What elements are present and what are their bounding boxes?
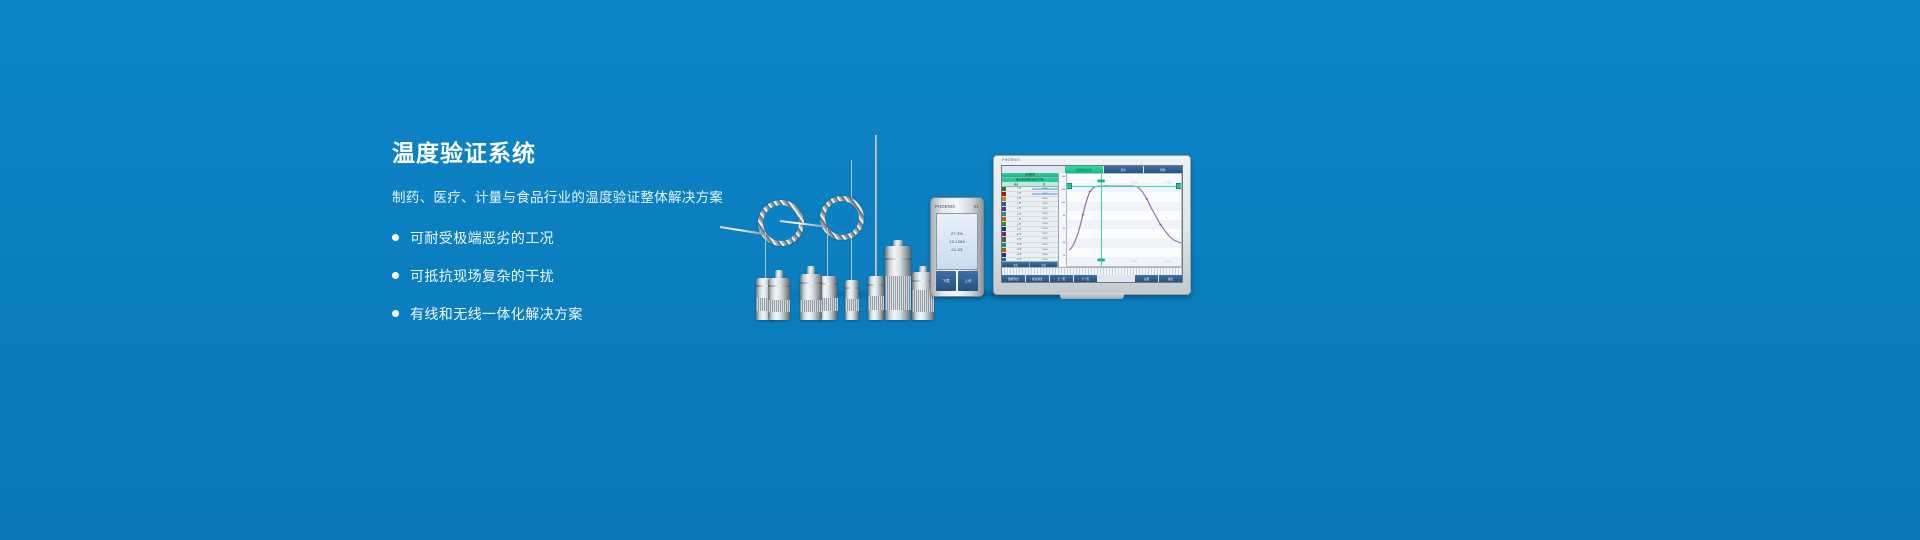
cell-channel: 4 号 (1006, 202, 1032, 205)
bottom-settings-button[interactable]: 设置 (1135, 275, 1158, 282)
handheld-screen-line-2: 13.1289 (949, 239, 965, 244)
chart-x-axis (1002, 267, 1182, 275)
y-tick-label: 80 (1063, 215, 1065, 217)
cell-channel: 5 号 (1006, 207, 1032, 210)
cell-value: 121.0 (1032, 223, 1058, 225)
cursor-label-top[interactable]: 光标A (1097, 180, 1105, 183)
cell-value: 121.7 (1032, 208, 1058, 210)
feature-bullet-label: 有线和无线一体化解决方案 (410, 304, 583, 324)
cell-channel: 7 号 (1006, 218, 1032, 221)
y-tick-label: 120 (1062, 189, 1065, 191)
annotation-label-cooldown: 降温段 (1165, 180, 1172, 184)
y-tick-label: 140 (1062, 176, 1065, 178)
bottom-export-button[interactable]: 数据导出 (1002, 275, 1025, 282)
cursor-handle-left[interactable]: A (1067, 183, 1072, 189)
annotation-label-sterilize-bottom: 灭菌段 (1131, 259, 1138, 263)
bottom-next-button[interactable]: 下一页 (1074, 275, 1097, 282)
cell-channel: 6 号 (1006, 213, 1032, 216)
handheld-screen-line-3: 01.03 (951, 247, 962, 252)
cell-channel: 13 号 (1006, 248, 1032, 251)
cell-value: 121.2 (1032, 203, 1058, 205)
software-bottom-bar[interactable]: 数据导出 报表预览 上一页 下一页 设置 退出 (1002, 275, 1182, 282)
handheld-brand-label: PHOENIX (935, 204, 955, 209)
bullet-dot-icon (392, 234, 399, 241)
validation-software-window: 新建验证任务 显示 帮助 通道数据 最高温度/最低温度/平均值 通道 值 1 号… (1001, 165, 1183, 283)
monitor-stand (1060, 293, 1124, 299)
cell-value: 121.3 (1032, 213, 1058, 215)
cell-value: 121.1 (1032, 244, 1058, 246)
cell-channel: 12 号 (1006, 243, 1032, 246)
cell-value: 121.4 (1032, 188, 1058, 190)
handheld-model-label: V1 (973, 204, 979, 209)
chart-plot-area[interactable]: 光标A 光标B A B 灭菌段 降温段 灭菌段 降温段 (1067, 173, 1182, 267)
cell-value: 121.3 (1032, 254, 1058, 256)
cell-channel: 9 号 (1006, 228, 1032, 231)
bottom-prev-button[interactable]: 上一页 (1050, 275, 1073, 282)
cell-channel: 2 号 (1006, 192, 1032, 195)
y-tick-label: 20 (1063, 255, 1065, 257)
cell-value: 121.8 (1032, 228, 1058, 230)
needle-probe-tall (868, 135, 884, 320)
software-toolbar[interactable]: 新建验证任务 显示 帮助 (1002, 166, 1182, 173)
bottom-preview-button[interactable]: 报表预览 (1026, 275, 1049, 282)
bottom-exit-button[interactable]: 退出 (1159, 275, 1182, 282)
software-body: 通道数据 最高温度/最低温度/平均值 通道 值 1 号121.4 2 号121.… (1002, 173, 1182, 267)
toolbar-display-button[interactable]: 显示 (1104, 166, 1142, 173)
channel-data-table[interactable]: 通道数据 最高温度/最低温度/平均值 通道 值 1 号121.4 2 号121.… (1002, 173, 1059, 267)
bullet-dot-icon (392, 310, 399, 317)
annotation-label-cooldown-bottom: 降温段 (1165, 259, 1172, 263)
handheld-keypad[interactable]: 下载 上传 (936, 271, 978, 291)
cell-channel: 10 号 (1006, 233, 1032, 236)
cursor-handle-right[interactable]: B (1176, 183, 1182, 189)
handheld-reader-device[interactable]: PHOENIX V1 27.3% 13.1289 01.03 下载 上传 (930, 197, 984, 297)
bullet-dot-icon (392, 272, 399, 279)
promo-banner: 温度验证系统 制药、医疗、计量与食品行业的温度验证整体解决方案 可耐受极端恶劣的… (0, 0, 1920, 540)
cell-value: 121.6 (1032, 249, 1058, 251)
data-logger-small-2 (800, 270, 822, 320)
data-logger-small-1 (768, 274, 790, 320)
handheld-screen-line-1: 27.3% (951, 231, 963, 236)
toolbar-help-button[interactable]: 帮助 (1144, 166, 1182, 173)
feature-bullet-label: 可抵抗现场复杂的干扰 (410, 266, 554, 286)
column-header-channel: 通道 (1002, 182, 1030, 186)
feature-bullet-label: 可耐受极端恶劣的工况 (410, 228, 554, 248)
y-tick-label: 60 (1063, 228, 1065, 230)
cursor-label-bottom[interactable]: 光标B (1097, 259, 1105, 262)
monitor-brand-label: PHOENIX (1002, 158, 1020, 162)
temperature-chart: 140 120 100 80 60 40 20 (1059, 173, 1182, 267)
cell-value: 121.6 (1032, 198, 1058, 200)
annotation-label-sterilize: 灭菌段 (1131, 180, 1138, 184)
handheld-brand-row: PHOENIX V1 (935, 202, 979, 210)
temperature-curve (1067, 174, 1181, 266)
cell-channel: 3 号 (1006, 197, 1032, 200)
monitor-display: PHOENIX 新建验证任务 显示 帮助 通道数据 最高温度/最低温度/平均值 … (993, 155, 1191, 295)
toolbar-spacer (1002, 166, 1064, 173)
cell-value: 121.2 (1032, 233, 1058, 235)
needle-probe-medium (845, 160, 859, 320)
chart-y-axis: 140 120 100 80 60 40 20 (1059, 173, 1067, 267)
toolbar-new-task-button[interactable]: 新建验证任务 (1065, 166, 1103, 173)
bottom-spacer (1098, 275, 1135, 282)
cell-value: 121.4 (1032, 238, 1058, 240)
cell-value: 121.1 (1032, 193, 1058, 195)
data-logger-large (885, 242, 911, 320)
cell-channel: 11 号 (1006, 238, 1032, 241)
cell-value: 121.5 (1032, 218, 1058, 220)
time-cursor-line[interactable] (1101, 174, 1102, 266)
column-header-value: 值 (1030, 182, 1058, 186)
handheld-key-download[interactable]: 下载 (936, 271, 956, 291)
y-tick-label: 40 (1063, 242, 1065, 244)
cell-channel: 1 号 (1006, 187, 1032, 190)
cell-channel: 8 号 (1006, 223, 1032, 226)
table-rows[interactable]: 1 号121.4 2 号121.1 3 号121.6 4 号121.2 5 号1… (1002, 187, 1058, 262)
y-tick-label: 100 (1062, 202, 1065, 204)
setpoint-cursor-line[interactable] (1067, 186, 1181, 187)
handheld-key-upload[interactable]: 上传 (958, 271, 978, 291)
handheld-screen: 27.3% 13.1289 01.03 (936, 213, 978, 270)
cell-channel: 14 号 (1006, 253, 1032, 256)
